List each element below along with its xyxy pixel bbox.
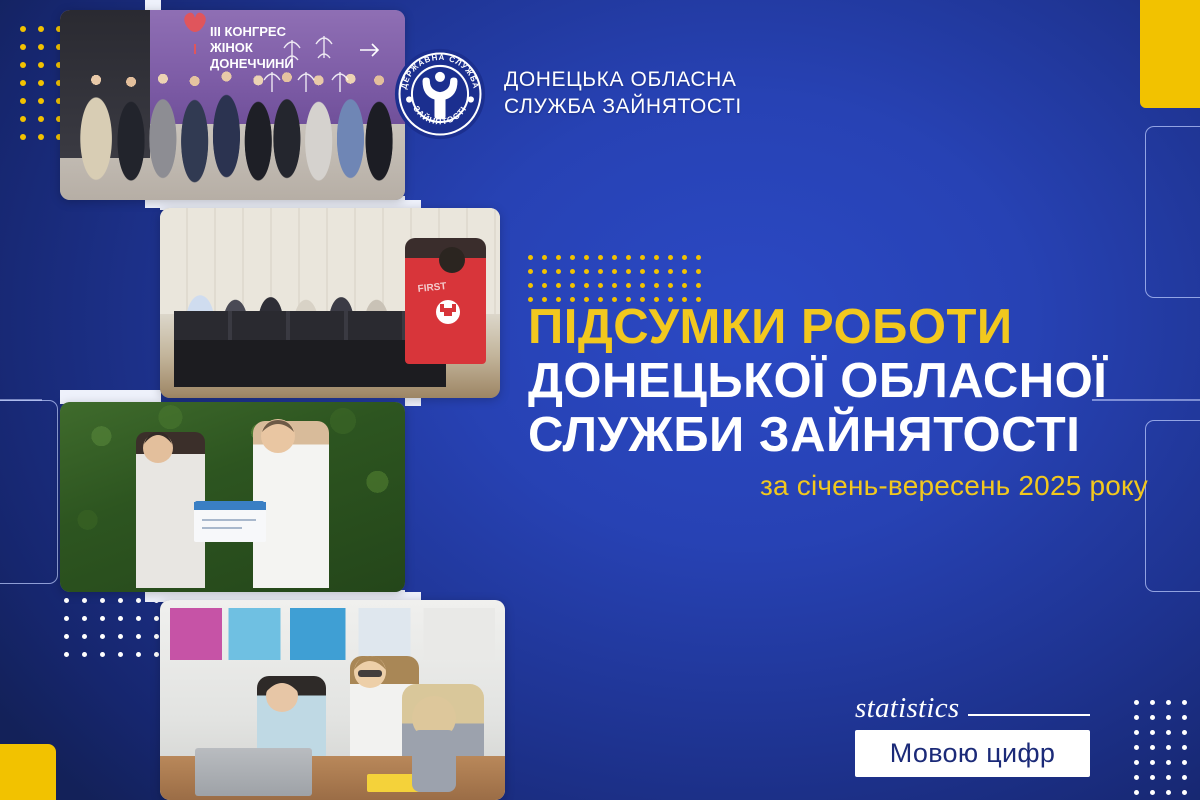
decor-dot [640,255,645,260]
decor-dot [1182,790,1187,795]
statistics-badge-box: Мовою цифр [855,730,1090,777]
decor-dot [20,62,26,68]
decor-dot [584,269,589,274]
decor-dot [584,283,589,288]
decor-dot [118,652,123,657]
decor-dot [640,283,645,288]
photo-congress-women: III КОНГРЕС ЖІНОК ДОНЕЧЧИНИ [60,10,405,200]
decor-dot [38,80,44,86]
decor-dot [542,283,547,288]
outline-box-right-lower [1145,420,1200,592]
decor-dot [598,283,603,288]
decor-dot [626,255,631,260]
decor-dot [1166,700,1171,705]
headline-block: ПІДСУМКИ РОБОТИ ДОНЕЦЬКОЇ ОБЛАСНОЇ СЛУЖБ… [528,303,1148,502]
decor-dot [556,283,561,288]
decor-dot [20,116,26,122]
decor-dot [1134,760,1139,765]
svg-text:FIRST: FIRST [417,281,447,295]
decor-dot [154,616,159,621]
decor-dot [696,283,701,288]
decor-dot [82,634,87,639]
decor-dot [682,283,687,288]
decor-dot [154,652,159,657]
decor-dot [20,98,26,104]
decor-dot [20,134,26,140]
decor-dot [38,62,44,68]
statistics-badge-text: Мовою цифр [890,738,1055,768]
decor-dot [64,616,69,621]
decor-dot [38,98,44,104]
decor-dot [612,283,617,288]
headline-line-2: ДОНЕЦЬКОЇ ОБЛАСНОЇ [528,357,1148,406]
decor-dot [1150,775,1155,780]
statistics-rule [968,714,1090,716]
decor-dot [570,255,575,260]
decor-dot [64,634,69,639]
decor-dot [556,255,561,260]
decor-dot [136,616,141,621]
decor-dot [136,634,141,639]
decor-dot [570,269,575,274]
decor-dot [64,652,69,657]
decor-dot [626,269,631,274]
decor-dot [1150,730,1155,735]
photo-certificate-handover [60,402,405,592]
decor-dot [82,616,87,621]
decor-dot [38,44,44,50]
yellow-block-top-right [1140,0,1200,108]
decor-dot [1150,760,1155,765]
decor-dot [668,269,673,274]
decor-dot [682,255,687,260]
photo-training-session: FIRST [160,208,500,398]
decor-dot [38,134,44,140]
decor-dot [1134,745,1139,750]
decor-dot [1182,760,1187,765]
decor-dot [1166,760,1171,765]
decor-dot [64,598,69,603]
decor-dot [136,598,141,603]
decor-dot [654,283,659,288]
decor-dot [598,255,603,260]
decor-dot [696,269,701,274]
decor-dot [118,616,123,621]
decor-dot [136,652,141,657]
decor-dot [542,269,547,274]
decor-dot [1166,715,1171,720]
decor-dot [20,80,26,86]
statistics-label: statistics [855,694,960,723]
decor-dot [1182,775,1187,780]
svg-text:ДОНЕЧЧИНИ: ДОНЕЧЧИНИ [210,56,294,71]
decor-dot [696,255,701,260]
decor-dot [668,255,673,260]
dot-grid-bottom-right [1134,700,1198,800]
decor-dot [528,269,533,274]
decor-dot [682,269,687,274]
decor-dot [100,634,105,639]
decor-dot [82,598,87,603]
decor-dot [654,255,659,260]
decor-dot [528,283,533,288]
decor-dot [20,44,26,50]
svg-text:III КОНГРЕС: III КОНГРЕС [210,24,287,39]
brand-header: ДЕРЖАВНА СЛУЖБА ЗАЙНЯТОСТІ ДОНЕЦЬКА ОБЛА… [394,48,742,140]
decor-dot [1166,775,1171,780]
yellow-block-bottom-left [0,744,56,800]
decor-dot [1134,715,1139,720]
statistics-badge: statistics Мовою цифр [855,694,1090,777]
decor-dot [1150,700,1155,705]
decor-dot [1134,700,1139,705]
decor-dot [1150,715,1155,720]
outline-box-top-right [1145,126,1200,298]
employment-service-emblem-icon: ДЕРЖАВНА СЛУЖБА ЗАЙНЯТОСТІ [394,48,486,140]
poster-canvas: III КОНГРЕС ЖІНОК ДОНЕЧЧИНИ [0,0,1200,800]
decor-dot [1182,745,1187,750]
decor-dot [38,116,44,122]
decor-dot [612,269,617,274]
decor-dot [118,598,123,603]
decor-dot [100,598,105,603]
decor-dot [584,255,589,260]
decor-dot [570,283,575,288]
decor-dot [612,255,617,260]
headline-line-3: СЛУЖБИ ЗАЙНЯТОСТІ [528,411,1148,460]
decor-dot [118,634,123,639]
svg-text:ЖІНОК: ЖІНОК [209,40,253,55]
decor-dot [654,269,659,274]
decor-dot [640,269,645,274]
decor-dot [1166,745,1171,750]
decor-dot [1166,790,1171,795]
decor-dot [38,26,44,32]
outline-box-left [0,400,58,584]
headline-subtitle: за січень-вересень 2025 року [528,470,1148,502]
decor-dot [100,616,105,621]
decor-dot [626,283,631,288]
decor-dot [100,652,105,657]
decor-dot [542,255,547,260]
decor-dot [556,269,561,274]
decor-dot [1182,730,1187,735]
decor-dot [1134,790,1139,795]
hairline-left [0,399,42,401]
decor-dot [82,652,87,657]
decor-dot [1166,730,1171,735]
photo-office-consultation [160,600,505,800]
decor-dot [668,283,673,288]
decor-dot [1182,700,1187,705]
decor-dot [1134,775,1139,780]
decor-dot [154,634,159,639]
decor-dot [528,255,533,260]
organization-name: ДОНЕЦЬКА ОБЛАСНА СЛУЖБА ЗАЙНЯТОСТІ [504,67,742,121]
headline-line-1: ПІДСУМКИ РОБОТИ [528,303,1148,352]
decor-dot [20,26,26,32]
decor-dot [1182,715,1187,720]
decor-dot [598,269,603,274]
decor-dot [1134,730,1139,735]
decor-dot [1150,790,1155,795]
decor-dot [1150,745,1155,750]
